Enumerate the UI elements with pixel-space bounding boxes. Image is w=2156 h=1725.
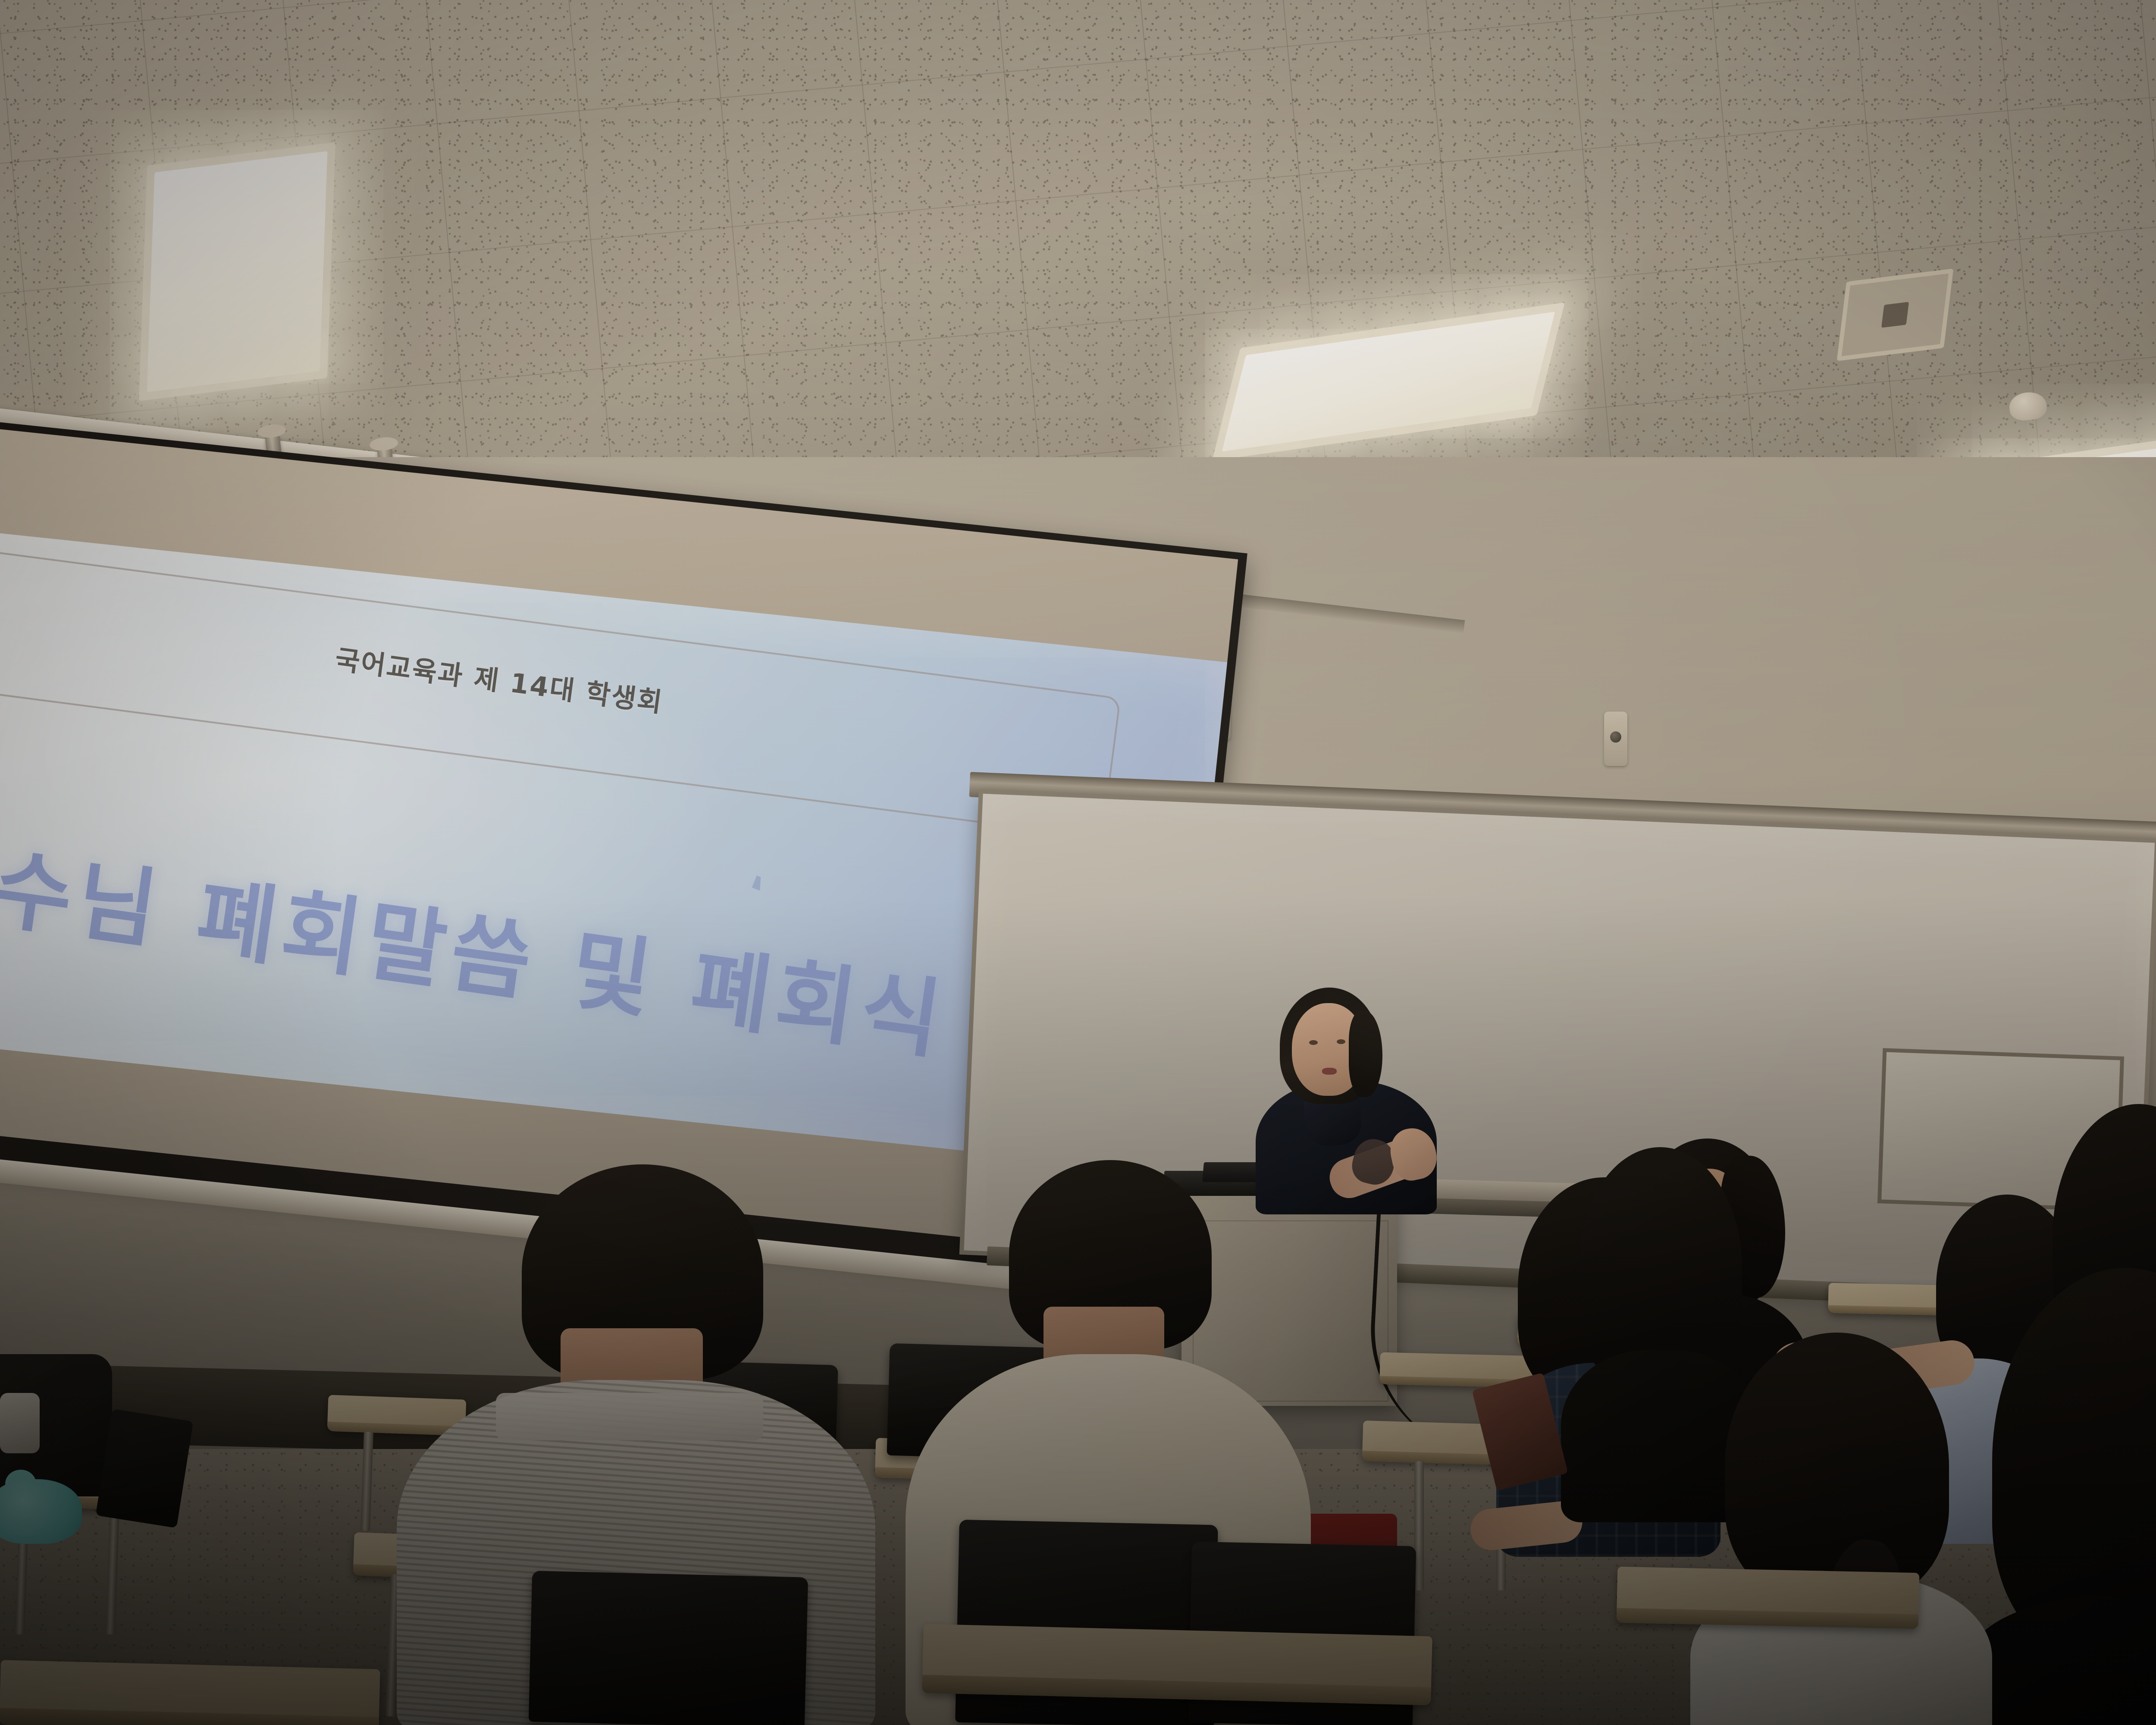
bag-strap bbox=[96, 1409, 194, 1528]
chair[interactable] bbox=[529, 1571, 808, 1725]
hair bbox=[1725, 1333, 1949, 1600]
mouth-icon bbox=[1322, 1068, 1337, 1075]
desk-leg bbox=[1414, 1461, 1424, 1590]
eye-icon bbox=[1309, 1040, 1318, 1045]
plush-toy bbox=[0, 1479, 82, 1544]
collar bbox=[496, 1393, 763, 1440]
ceiling-light-icon bbox=[139, 142, 335, 401]
student-white-top-ponytail bbox=[1673, 1333, 2001, 1725]
water-bottle bbox=[0, 1393, 40, 1453]
student-desk bbox=[922, 1624, 1432, 1706]
ceiling-vent-icon bbox=[1837, 269, 1954, 361]
student-desk bbox=[1617, 1567, 1920, 1629]
student-desk bbox=[0, 1660, 380, 1725]
presenter-hair-side bbox=[1349, 1011, 1382, 1097]
mouse-cursor-icon bbox=[752, 875, 765, 891]
eye-icon bbox=[1337, 1039, 1345, 1044]
classroom-photo: 국어교육과 제 14대 학생회 교수님 폐회말씀 및 폐회식 bbox=[0, 0, 2156, 1725]
